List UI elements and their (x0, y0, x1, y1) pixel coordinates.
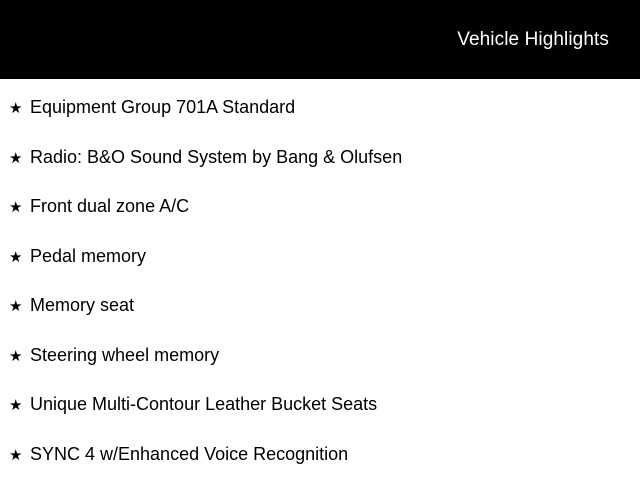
list-item-label: SYNC 4 w/Enhanced Voice Recognition (30, 445, 348, 463)
star-bullet-icon: ★ (9, 349, 30, 364)
list-item: ★ Memory seat (0, 296, 640, 346)
star-bullet-icon: ★ (9, 151, 30, 166)
header-band: Vehicle Highlights (0, 0, 640, 79)
star-bullet-icon: ★ (9, 101, 30, 116)
list-item: ★ Front dual zone A/C (0, 197, 640, 247)
list-item-label: Pedal memory (30, 247, 146, 265)
list-item: ★ Steering wheel memory (0, 346, 640, 396)
list-item-label: Front dual zone A/C (30, 197, 189, 215)
list-item: ★ Pedal memory (0, 247, 640, 297)
list-item-label: Radio: B&O Sound System by Bang & Olufse… (30, 148, 402, 166)
list-item: ★ Radio: B&O Sound System by Bang & Oluf… (0, 148, 640, 198)
star-bullet-icon: ★ (9, 448, 30, 463)
vehicle-highlights-page: Vehicle Highlights ★ Equipment Group 701… (0, 0, 640, 480)
star-bullet-icon: ★ (9, 250, 30, 265)
list-item: ★ Equipment Group 701A Standard (0, 79, 640, 148)
star-bullet-icon: ★ (9, 200, 30, 215)
list-item-label: Steering wheel memory (30, 346, 219, 364)
star-bullet-icon: ★ (9, 398, 30, 413)
page-title: Vehicle Highlights (457, 30, 609, 49)
star-bullet-icon: ★ (9, 299, 30, 314)
list-item-label: Memory seat (30, 296, 134, 314)
list-item-label: Equipment Group 701A Standard (30, 98, 295, 116)
list-item: ★ Unique Multi-Contour Leather Bucket Se… (0, 395, 640, 445)
list-item-label: Unique Multi-Contour Leather Bucket Seat… (30, 395, 377, 413)
list-item: ★ SYNC 4 w/Enhanced Voice Recognition (0, 445, 640, 494)
vehicle-highlights-list: ★ Equipment Group 701A Standard ★ Radio:… (0, 79, 640, 494)
